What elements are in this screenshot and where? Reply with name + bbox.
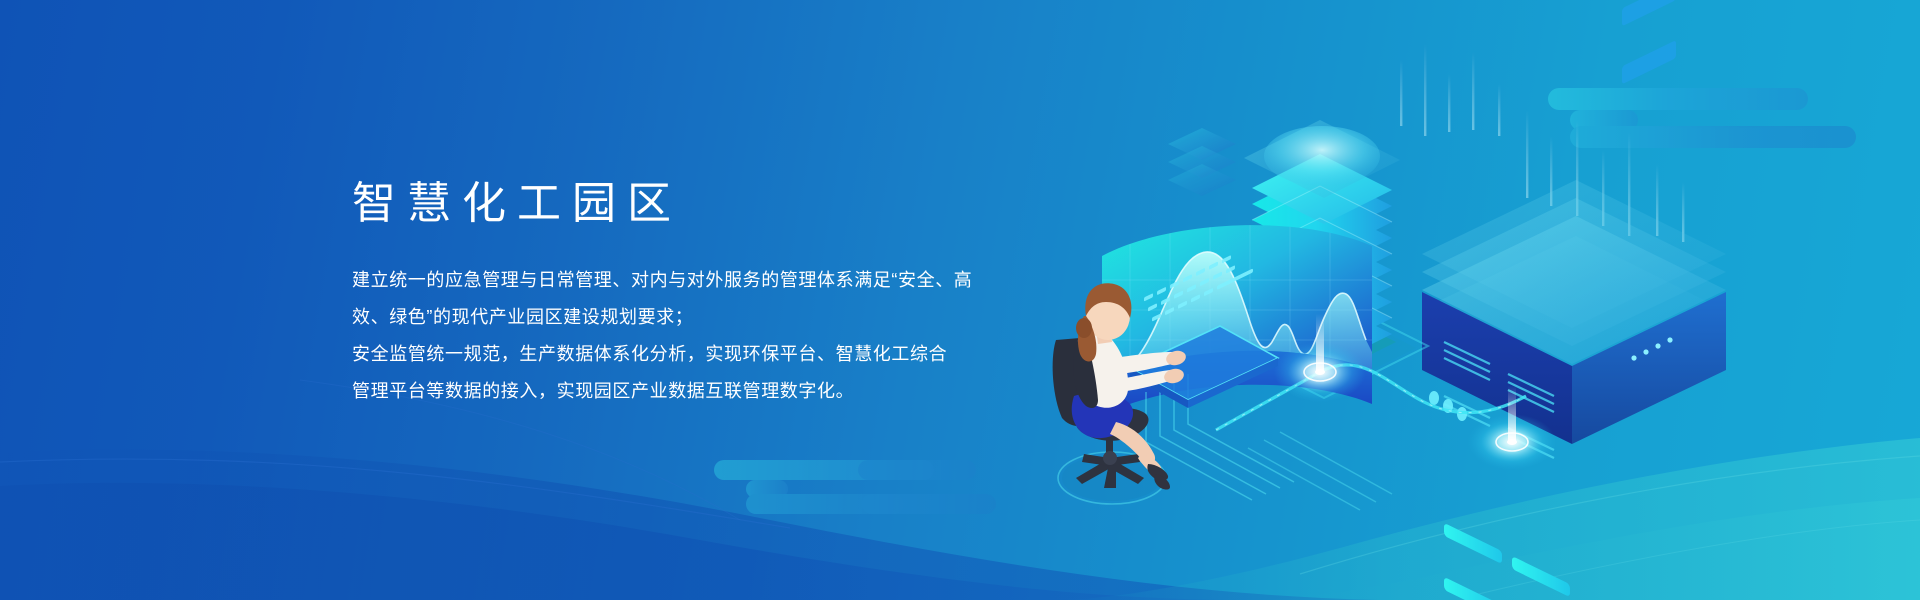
- woman-hand: [1165, 349, 1188, 367]
- wave-right-lower: [1060, 438, 1920, 600]
- keyboard-keys: [1144, 255, 1253, 322]
- rack-connector-lines: [1444, 342, 1554, 412]
- holographic-keyboard: [1130, 255, 1278, 408]
- wave-left-lowest: [0, 483, 1240, 600]
- hero-illustration: [1020, 40, 1740, 560]
- wave-right-hairline-2: [1470, 520, 1920, 596]
- cloud-bar: [746, 480, 788, 498]
- woman-arm-lower: [1112, 370, 1176, 392]
- glow-node: [1274, 314, 1366, 402]
- chair-seat: [1076, 407, 1149, 440]
- description-line-3: 安全监管统一规范，生产数据体系化分析，实现环保平台、智慧化工综合: [352, 336, 1082, 373]
- curved-data-screen: [1090, 210, 1390, 430]
- connection-path: [1146, 365, 1526, 510]
- woman-neck: [1096, 328, 1112, 344]
- screen-grid: [1090, 210, 1390, 430]
- woman-head: [1086, 292, 1130, 340]
- cloud-bar: [862, 494, 996, 514]
- perspective-lines: [1146, 374, 1294, 500]
- rack-front-lights: [1429, 391, 1467, 421]
- wave-left-lower: [0, 449, 1380, 600]
- woman-arm-upper: [1112, 352, 1178, 374]
- wave-right-hairline: [1300, 456, 1920, 574]
- woman-hair: [1085, 283, 1131, 318]
- woman-leg-2: [1138, 454, 1162, 475]
- page-title: 智慧化工园区: [352, 180, 1082, 228]
- woman-shoe: [1147, 464, 1168, 480]
- cloud-bar: [1570, 110, 1638, 130]
- floating-layers-icon: [1168, 128, 1236, 196]
- chair-floor-shadow: [1062, 455, 1162, 501]
- rack-indicator-panels: [1622, 0, 1676, 361]
- falling-light-streaks: [1400, 44, 1684, 242]
- cloud-decoration-bottom-center: [686, 444, 986, 554]
- chair-floor-ring: [1058, 452, 1166, 504]
- description-line-2: 效、绿色”的现代产业园区建设规划要求；: [352, 299, 1082, 336]
- cloud-bar: [858, 460, 976, 480]
- cloud-bar: [746, 494, 904, 514]
- description-line-4: 管理平台等数据的接入，实现园区产业数据互联管理数字化。: [352, 373, 1082, 410]
- glow-node-secondary: [1468, 386, 1556, 470]
- grid-lines-ground: [1248, 432, 1392, 510]
- tower-base-platform: [1216, 292, 1428, 398]
- cloud-bar: [1570, 126, 1856, 148]
- cloud-bar: [714, 460, 934, 480]
- chair-legs: [1076, 454, 1144, 488]
- cylinder-data-tower: [1244, 120, 1400, 378]
- woman-blouse: [1077, 330, 1129, 407]
- woman-leg: [1110, 422, 1155, 464]
- rack-slot-group-2: [1444, 577, 1570, 600]
- ground-plate-rack: [1424, 236, 1720, 380]
- hero-copy: 智慧化工园区 建立统一的应急管理与日常管理、对内与对外服务的管理体系满足“安全、…: [352, 180, 1082, 410]
- cloud-bar: [1548, 88, 1808, 110]
- tower-glow-dome: [1264, 126, 1380, 186]
- rack-slot-group-1: [1444, 523, 1570, 597]
- wave-right-lowest: [1250, 498, 1920, 600]
- area-chart-on-screen: [1102, 252, 1372, 388]
- rack-connector-lines-2: [1444, 396, 1554, 458]
- hero-banner: 智慧化工园区 建立统一的应急管理与日常管理、对内与对外服务的管理体系满足“安全、…: [0, 0, 1920, 600]
- wave-left-hairline: [0, 459, 790, 528]
- woman-hand-2: [1163, 367, 1186, 385]
- server-rack: [1422, 0, 1726, 600]
- description-line-1: 建立统一的应急管理与日常管理、对内与对外服务的管理体系满足“安全、高: [352, 262, 1082, 299]
- tower-discs: [1252, 154, 1392, 368]
- woman-shoe-2: [1154, 474, 1170, 490]
- seated-woman-typing: [1072, 283, 1188, 489]
- cloud-decoration-top-right: [1548, 58, 1868, 168]
